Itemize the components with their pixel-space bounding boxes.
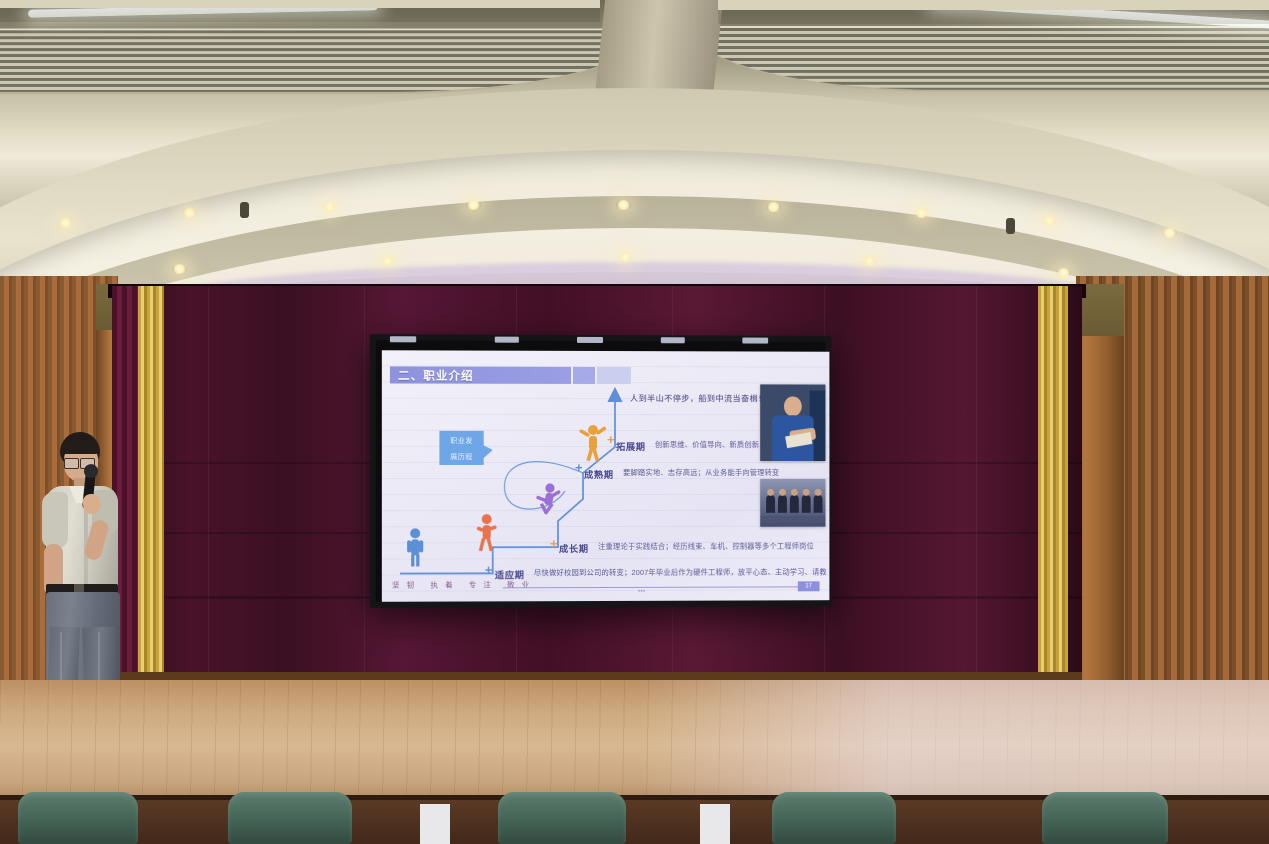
screen-led <box>742 338 768 344</box>
audience-seat[interactable] <box>228 792 352 844</box>
downlight-inner <box>862 256 877 266</box>
walking-figure <box>475 513 499 551</box>
audience-seat[interactable] <box>18 792 138 844</box>
standing-figure <box>404 527 426 567</box>
photo-team-workshop <box>760 479 825 527</box>
slide-content: 二、职业介绍 人到半山不停步，船到中流当奋楫！ 职业发 展历程 <box>382 350 830 602</box>
ventilation-grille-left <box>0 28 652 94</box>
running-figure <box>533 483 563 515</box>
downlight <box>1042 216 1057 226</box>
career-journey-bubble: 职业发 展历程 <box>439 431 483 465</box>
downlight-inner <box>618 252 633 262</box>
stage-desc-maturity: 要脚踏实地、志存高远；从业务能手向管理转变 <box>623 468 779 478</box>
downlight-inner <box>172 264 187 274</box>
screen-led <box>661 337 685 343</box>
slide-footer-logo: ●●● <box>638 588 645 593</box>
audience-seat[interactable] <box>498 792 626 844</box>
ceiling-beam-shadow-right <box>718 10 1269 24</box>
bubble-line-1: 职业发 <box>439 431 483 447</box>
stage-label-maturity: 成熟期 <box>584 467 614 481</box>
ceiling-column <box>595 0 723 96</box>
glasses-icon <box>64 458 79 469</box>
plus-marker: + <box>485 563 493 576</box>
ceiling-beam-left <box>0 0 600 8</box>
stage-label-growth: 成长期 <box>559 541 589 555</box>
screen-led <box>577 337 603 343</box>
floor-reflection <box>640 680 1269 800</box>
downlight-inner <box>1056 268 1071 278</box>
stage-desc-adaptation: 尽快做好校园到公司的转变；2007年毕业后作为硬件工程师，放平心态、主动学习、请… <box>534 567 827 578</box>
ceiling-beam-shadow-left <box>0 8 600 22</box>
presenter-sleeve-left <box>42 492 68 548</box>
downlight <box>1162 228 1177 238</box>
projection-screen[interactable]: 二、职业介绍 人到半山不停步，船到中流当奋楫！ 职业发 展历程 <box>370 334 832 608</box>
slide-footer-words: 坚韧 执着 专注 敬业 <box>392 579 536 590</box>
photo-engineer-blue-uniform <box>760 384 825 461</box>
audience-seat[interactable] <box>1042 792 1168 844</box>
downlight-inner <box>380 256 395 266</box>
downlight <box>766 202 781 212</box>
ceiling-spotlight <box>240 202 249 218</box>
downlight <box>322 202 337 212</box>
plus-marker: + <box>550 537 558 550</box>
auditorium-scene: 二、职业介绍 人到半山不停步，船到中流当奋楫！ 职业发 展历程 <box>0 0 1269 844</box>
stage-desc-growth: 注重理论于实践结合；经历线束、车机、控制器等多个工程师岗位 <box>598 542 814 552</box>
downlight <box>182 208 197 218</box>
downlight <box>58 218 73 228</box>
screen-led <box>495 337 519 343</box>
audience-seat[interactable] <box>772 792 896 844</box>
stage-label-expansion: 拓展期 <box>616 439 646 453</box>
plus-marker: + <box>575 461 583 474</box>
downlight <box>914 208 929 218</box>
slide-page-number: 17 <box>798 581 820 591</box>
jumping-figure <box>577 423 609 461</box>
screen-led <box>390 336 416 342</box>
downlight <box>616 200 631 210</box>
seat-paper <box>420 804 450 844</box>
ceiling-beam-right <box>718 0 1269 10</box>
ventilation-grille-right <box>689 26 1269 92</box>
bubble-line-2: 展历程 <box>439 447 483 463</box>
ceiling-spotlight <box>1006 218 1015 234</box>
downlight <box>466 200 481 210</box>
curtain-gold-right <box>1038 286 1068 686</box>
seat-paper <box>700 804 730 844</box>
plus-marker: + <box>607 433 615 446</box>
presenter-hair-front <box>61 440 99 454</box>
stage-floor <box>0 680 1269 800</box>
